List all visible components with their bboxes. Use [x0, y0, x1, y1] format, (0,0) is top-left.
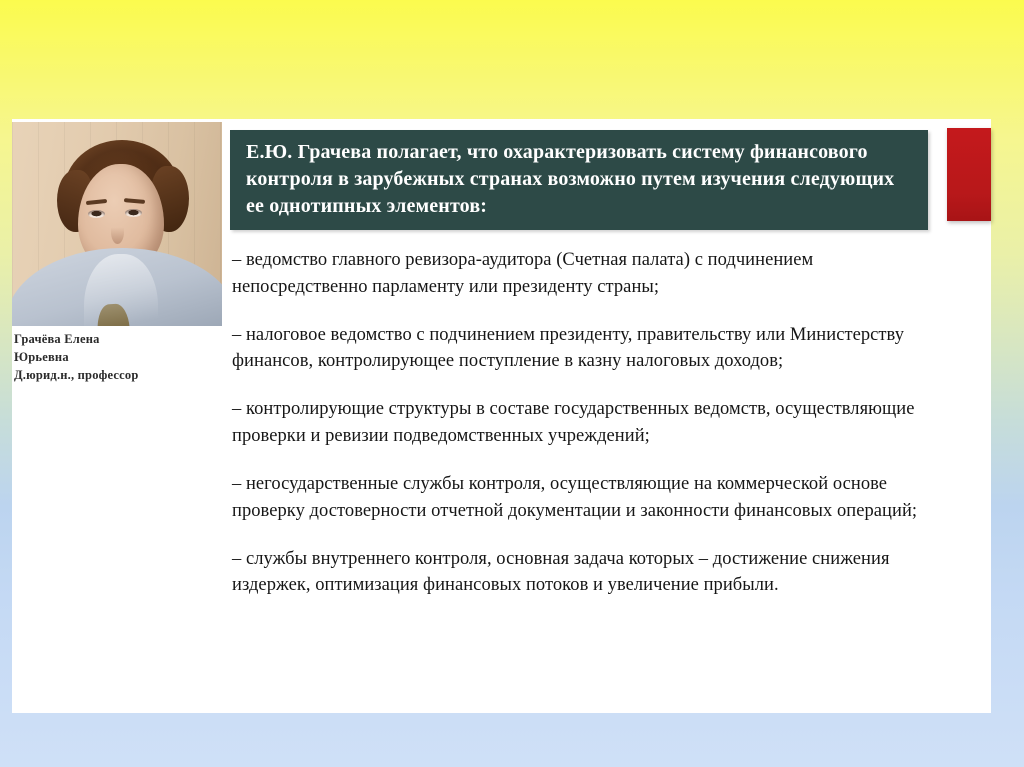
author-caption-line-3: Д.юрид.н., профессор — [14, 367, 229, 385]
photo-eye-left — [88, 210, 105, 218]
author-caption: Грачёва Елена Юрьевна Д.юрид.н., професс… — [14, 331, 229, 384]
list-item: – негосударственные службы контроля, осу… — [232, 471, 932, 525]
slide-header-callout: Е.Ю. Грачева полагает, что охарактеризов… — [230, 130, 928, 230]
slide-body-list: – ведомство главного ревизора-аудитора (… — [232, 247, 932, 599]
author-photo — [12, 122, 222, 326]
author-caption-line-2: Юрьевна — [14, 349, 229, 367]
list-item: – ведомство главного ревизора-аудитора (… — [232, 247, 932, 301]
photo-collar — [96, 303, 131, 326]
author-caption-line-1: Грачёва Елена — [14, 331, 229, 349]
photo-nose — [111, 220, 124, 244]
list-item: – контролирующие структуры в составе гос… — [232, 396, 932, 450]
photo-jacket — [12, 248, 222, 326]
slide-canvas: Грачёва Елена Юрьевна Д.юрид.н., професс… — [12, 119, 991, 713]
photo-background — [12, 122, 222, 326]
photo-eye-right — [125, 209, 142, 217]
list-item: – налоговое ведомство с подчинением през… — [232, 322, 932, 376]
list-item: – службы внутреннего контроля, основная … — [232, 546, 932, 600]
red-accent-block — [947, 128, 991, 221]
